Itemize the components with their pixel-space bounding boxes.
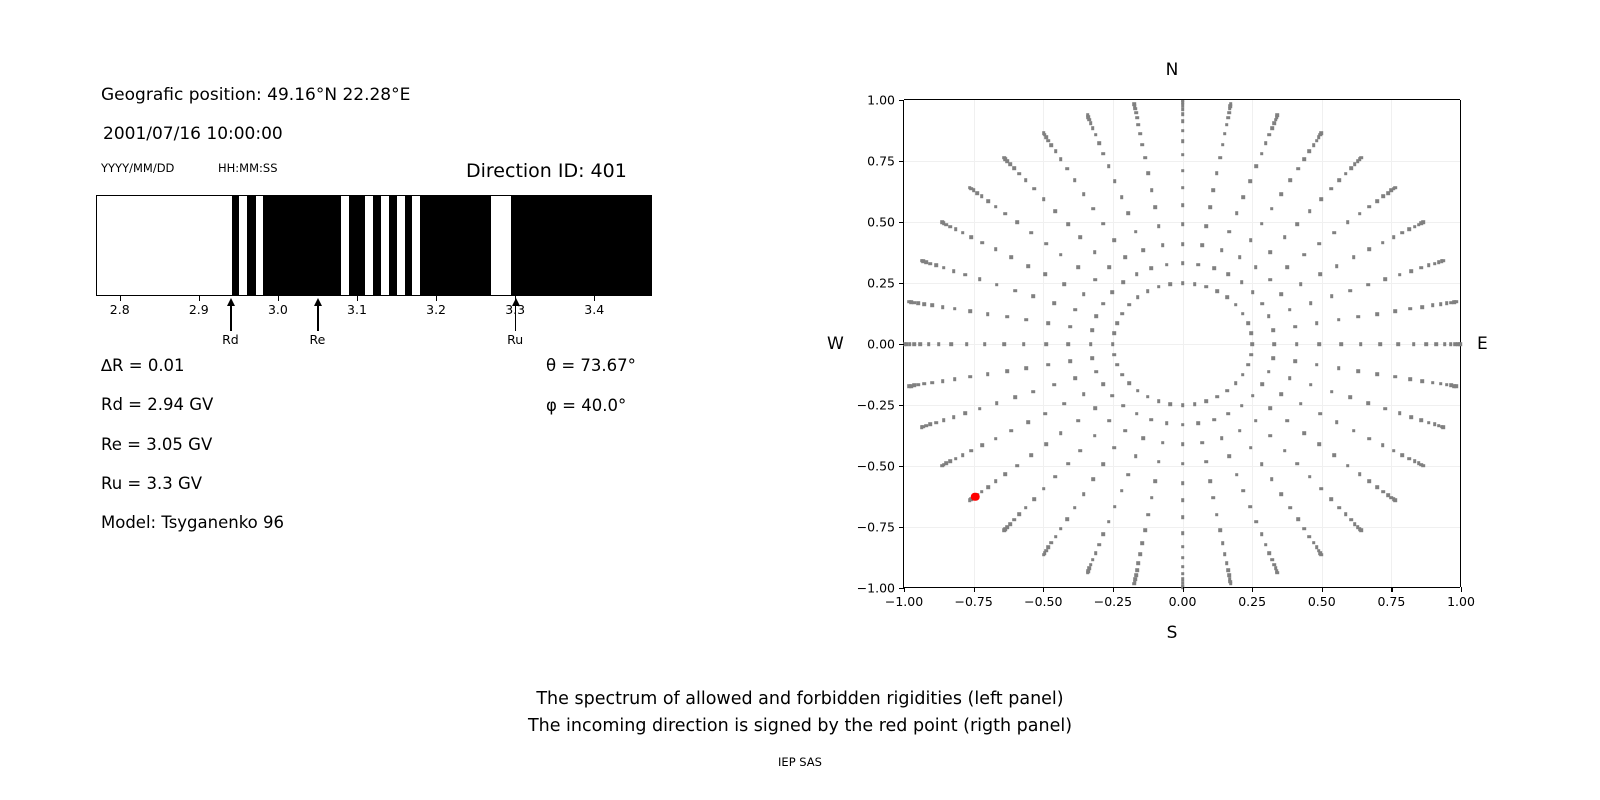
direction-point [1267,315,1271,319]
direction-point [1421,379,1425,383]
x-axis-tick [1183,587,1184,592]
direction-point [1216,395,1220,399]
direction-point [1181,462,1185,466]
direction-point [1367,479,1371,483]
direction-point [1101,222,1105,226]
direction-point [954,227,958,231]
y-axis-tick-label: 0.75 [867,154,895,169]
direction-point [1137,561,1141,565]
direction-point [1120,373,1124,377]
rigidity-marker-label: Rd [222,332,239,347]
direction-point [1082,492,1086,496]
direction-point [1260,382,1264,386]
direction-point [1246,363,1250,367]
direction-point [1393,186,1397,190]
direction-point [1107,165,1111,169]
compass-north-label: N [1166,60,1179,80]
direction-point [1229,103,1233,107]
rigidity-marker-label: Re [310,332,326,347]
direction-point [1392,449,1396,453]
direction-point [1181,120,1185,124]
direction-point [1157,400,1161,404]
direction-point [1134,230,1138,234]
direction-point [1150,188,1154,192]
direction-point [1367,205,1371,209]
y-axis-tick-label: −0.50 [857,459,895,474]
direction-point [1220,436,1224,440]
direction-point [1408,227,1412,231]
direction-point [1181,565,1185,569]
direction-point [1059,432,1063,436]
direction-point [917,383,921,387]
direction-point [1293,325,1297,329]
direction-point [980,195,984,199]
y-axis-tick [899,100,904,101]
direction-point [1054,209,1058,213]
direction-point [1408,307,1412,311]
direction-point [1445,301,1449,305]
direction-point [994,205,998,209]
asymptotic-direction-panel: −1.00−0.75−0.50−0.250.000.250.500.751.00… [800,0,1600,800]
direction-point [1013,396,1017,400]
direction-point [1124,429,1128,433]
direction-point [1408,377,1412,381]
direction-point [1260,222,1264,226]
direction-point [1032,295,1036,299]
direction-point [1332,231,1336,235]
direction-point [1066,462,1070,466]
direction-point [1181,129,1185,133]
direction-point [1359,342,1363,346]
direction-point [1381,195,1385,199]
rigidity-tick-label: 3.2 [426,302,446,317]
direction-point [1066,223,1070,227]
direction-point [1059,527,1063,531]
direction-point [1059,157,1063,161]
arrow-up-icon [227,298,235,306]
direction-point [1349,518,1353,522]
direction-point [1254,419,1258,423]
direction-point [950,342,954,346]
direction-point [1337,318,1341,322]
direction-point [1024,506,1028,510]
direction-point [1335,264,1339,268]
direction-point [1393,375,1397,379]
direction-point [994,248,998,252]
x-axis-tick [1043,587,1044,592]
direction-point [1181,572,1185,576]
direction-point [1329,187,1333,191]
institution-footer: IEP SAS [0,755,1600,769]
direction-point [1280,192,1284,196]
direction-point [1138,552,1142,556]
y-axis-tick-label: 0.50 [867,215,895,230]
direction-point [1270,126,1274,130]
direction-point [1227,230,1231,234]
direction-point [1330,295,1334,299]
forbidden-band [349,196,365,295]
direction-point [1204,224,1208,228]
direction-point [1208,205,1212,209]
rigidity-spectrum-bar [96,195,652,296]
gridline-horizontal [904,466,1460,467]
direction-point [1142,248,1146,252]
y-axis-tick [899,344,904,345]
direction-point [1241,373,1245,377]
direction-point [1240,281,1244,285]
direction-point [1201,441,1205,445]
direction-point [1042,132,1046,136]
direction-point [1356,315,1360,319]
direction-point [1181,153,1185,157]
direction-point [968,309,972,313]
direction-point [1212,188,1216,192]
direction-point [1181,498,1185,502]
direction-point [1142,436,1146,440]
direction-point [1309,383,1313,387]
direction-point [1042,487,1046,491]
direction-point [1107,520,1111,524]
rigidity-tick [199,296,200,301]
direction-point [1308,209,1312,213]
direction-point [1250,342,1254,346]
direction-point [941,379,945,383]
direction-point [1012,166,1016,170]
direction-point [1157,224,1161,228]
direction-point [1032,390,1036,394]
direction-point [1317,443,1321,447]
y-axis-tick [899,405,904,406]
x-axis-tick [904,587,905,592]
direction-point [994,479,998,483]
direction-point [1146,395,1150,399]
direction-point [1398,273,1402,277]
direction-point [907,384,911,388]
direction-point [1225,295,1229,299]
direction-point [1043,412,1047,416]
direction-point [1249,353,1253,357]
direction-point [1329,497,1333,501]
direction-point [1107,266,1111,270]
direction-point [1110,394,1114,398]
direction-point [1454,384,1458,388]
rigidity-tick [357,296,358,301]
direction-point [1054,535,1058,539]
direction-point [920,425,924,429]
direction-point [1375,199,1379,203]
direction-point [1024,179,1028,183]
direction-point [1220,248,1224,252]
direction-point [1268,407,1272,411]
direction-point [1358,212,1362,216]
direction-point [1381,490,1385,494]
direction-point [1044,242,1048,246]
direction-point [1260,463,1264,467]
forbidden-band [389,196,397,295]
direction-point [1157,460,1161,464]
direction-point [1090,328,1094,332]
direction-point [923,382,927,386]
y-axis-tick [899,466,904,467]
direction-point [1101,302,1105,306]
direction-point [1091,126,1095,130]
direction-point [1138,132,1142,136]
x-axis-tick-label: 0.00 [1169,594,1197,609]
x-axis-tick-label: −0.75 [954,594,992,609]
forbidden-band [247,196,256,295]
direction-point [1427,421,1431,425]
direction-point [1086,571,1090,575]
direction-point [1368,248,1372,252]
direction-point [1026,264,1030,268]
direction-point [1218,528,1222,532]
direction-point [1268,133,1272,137]
direction-point [1449,342,1453,346]
direction-point [1112,332,1116,336]
direction-point [1289,178,1293,182]
direction-point [1296,518,1300,522]
direction-point [1367,401,1371,405]
direction-point [1348,289,1352,293]
direction-point [1132,582,1136,586]
direction-point [1135,412,1139,416]
direction-point [994,437,998,441]
direction-point [1251,394,1255,398]
direction-point [1435,342,1439,346]
direction-point [1337,366,1341,370]
direction-point [1042,197,1046,201]
direction-point [1022,342,1026,346]
direction-point [1115,363,1119,367]
direction-point [1410,415,1414,419]
direction-point [1135,272,1139,276]
direction-point [1141,143,1145,147]
direction-point [1102,152,1106,156]
direction-point [1443,342,1447,346]
direction-point [1169,402,1173,406]
direction-point [1229,582,1233,586]
direction-point [1225,561,1229,565]
gridline-horizontal [904,527,1460,528]
y-axis-tick-label: 0.25 [867,276,895,291]
direction-point [1346,221,1350,225]
direction-point [1454,300,1458,304]
forbidden-band [420,196,491,295]
direction-point [1073,178,1077,182]
direction-point [1161,244,1165,248]
direction-point [1153,205,1157,209]
direction-point [953,377,957,381]
direction-point [1271,328,1275,332]
direction-point [1344,172,1348,176]
direction-point [931,304,935,308]
direction-point [1234,303,1238,307]
direction-point [986,485,990,489]
direction-point [1135,568,1139,572]
direction-point [1295,462,1299,466]
direction-point [1397,342,1401,346]
direction-point [1346,464,1350,468]
direction-point [1005,369,1009,373]
direction-point [961,453,965,457]
direction-point [1276,114,1280,118]
direction-point [1094,315,1098,319]
rigidity-marker-label: Ru [507,332,523,347]
direction-point [1024,318,1028,322]
direction-point [1272,121,1276,125]
direction-point [1375,312,1379,316]
direction-point [952,415,956,419]
direction-point [1052,383,1056,387]
direction-point [1308,475,1312,479]
direction-point [1427,264,1431,268]
direction-point [1212,418,1216,422]
direction-point [981,241,985,245]
direction-point [1112,446,1116,450]
caption-line-2: The incoming direction is signed by the … [0,713,1600,740]
direction-point [1280,292,1284,296]
direction-point [1093,251,1097,255]
direction-point [1149,418,1153,422]
direction-point [1024,366,1028,370]
direction-point [1136,295,1140,299]
direction-point [1215,172,1219,176]
direction-point [1226,568,1230,572]
direction-point [970,449,974,453]
direction-point [970,235,974,239]
direction-point [908,342,912,346]
direction-point [1344,513,1348,517]
direction-point [1181,515,1185,519]
rigidity-tick [120,296,121,301]
direction-point [1146,289,1150,293]
param-re: Re = 3.05 GV [101,435,212,454]
y-axis-tick [899,222,904,223]
direction-point [1110,290,1114,294]
direction-point [1005,315,1009,319]
direction-point [1293,360,1297,364]
direction-point [934,264,938,268]
direction-point [1312,541,1316,545]
direction-point [1410,269,1414,273]
direction-point [986,199,990,203]
direction-point [1090,356,1094,360]
direction-point [1226,116,1230,120]
compass-west-label: W [827,334,844,354]
direction-point [1319,197,1323,201]
direction-point [1260,533,1264,537]
direction-point [968,186,972,190]
direction-point [1093,434,1097,438]
direction-point [1089,121,1093,125]
direction-point [1352,429,1356,433]
direction-point [1093,278,1097,282]
y-axis-tick-label: −0.25 [857,398,895,413]
direction-point [1358,472,1362,476]
direction-point [975,191,979,195]
direction-point [948,225,952,229]
direction-point [1101,463,1105,467]
direction-point [1320,553,1324,557]
direction-point [1312,143,1316,147]
direction-point [1181,186,1185,190]
direction-point [1248,505,1252,509]
direction-point [1073,376,1077,380]
direction-point [1419,418,1423,422]
direction-point [968,375,972,379]
direction-point [1107,419,1111,423]
compass-south-label: S [1167,623,1178,643]
forbidden-band [232,196,239,295]
direction-point [1137,123,1141,127]
compass-east-label: E [1477,334,1488,354]
y-axis-tick-label: −0.75 [857,520,895,535]
direction-point [920,259,924,263]
direction-point [1375,485,1379,489]
direction-point [1094,551,1098,555]
direction-point [1419,266,1423,270]
direction-point [1089,342,1093,346]
direction-point [1221,143,1225,147]
direction-point [1086,114,1090,118]
direction-point [927,342,931,346]
direction-point [1335,420,1339,424]
arrow-up-icon [314,298,322,306]
direction-point [1299,402,1303,406]
x-axis-tick [1322,587,1323,592]
direction-point [1063,402,1067,406]
direction-point [1017,513,1021,517]
direction-point [1068,360,1072,364]
rigidity-tick-label: 2.9 [189,302,209,317]
direction-point [1009,256,1013,260]
direction-point [1260,152,1264,156]
direction-point [1126,473,1130,477]
direction-point [963,411,967,415]
direction-point [1143,528,1147,532]
direction-point [1135,116,1139,120]
direction-point [1442,425,1446,429]
rigidity-tick-label: 3.0 [268,302,288,317]
direction-point [1212,496,1216,500]
direction-point [1082,292,1086,296]
direction-point [1212,267,1216,271]
direction-point [1101,382,1105,386]
direction-point [1017,172,1021,176]
direction-point [1392,235,1396,239]
direction-point [980,490,984,494]
direction-point [1337,506,1341,510]
direction-point [1134,455,1138,459]
direction-point [1295,342,1299,346]
direction-point [1197,263,1201,267]
gridline-horizontal [904,344,1460,345]
direction-point [1260,302,1264,306]
direction-point [1122,404,1126,408]
direction-point [1424,342,1428,346]
direction-point [1181,242,1185,246]
direction-point [931,381,935,385]
direction-point [1097,142,1101,146]
direction-point [1223,552,1227,556]
direction-point [1251,290,1255,294]
forbidden-band [405,196,412,295]
direction-point [1054,475,1058,479]
direction-point [1044,342,1048,346]
direction-point [1433,423,1437,427]
direction-point [1235,473,1239,477]
direction-point [1004,212,1008,216]
